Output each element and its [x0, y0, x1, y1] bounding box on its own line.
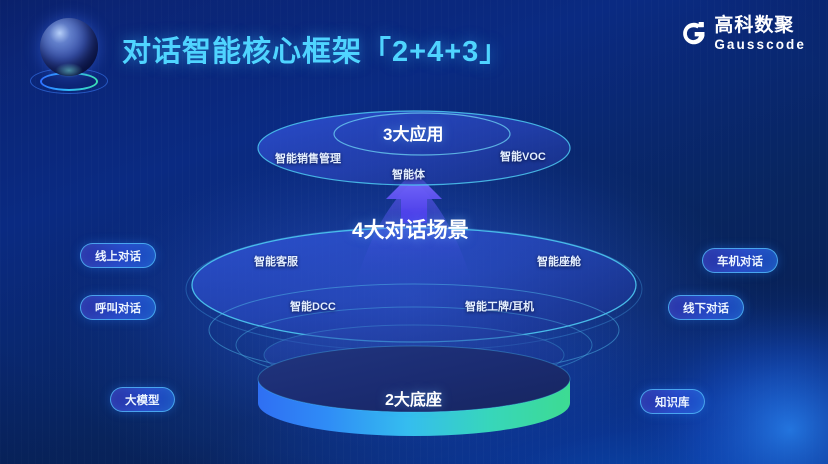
- label-smart-voc[interactable]: 智能VOC: [500, 148, 546, 164]
- gausscode-g-mark-icon: [680, 20, 707, 47]
- pill-call-conversation[interactable]: 呼叫对话: [80, 295, 156, 320]
- pill-knowledge-base[interactable]: 知识库: [640, 389, 705, 414]
- tier-title-foundation: 2大底座: [385, 386, 442, 410]
- tier-title-applications: 3大应用: [383, 120, 443, 145]
- label-smart-cockpit[interactable]: 智能座舱: [537, 253, 581, 269]
- label-smart-badge-headset[interactable]: 智能工牌/耳机: [465, 298, 534, 314]
- pill-offline-conversation[interactable]: 线下对话: [668, 295, 744, 320]
- pill-online-conversation[interactable]: 线上对话: [80, 243, 156, 268]
- orb-ball: [40, 18, 98, 76]
- sphere-orb-icon: [26, 14, 110, 100]
- brand-name-cn: 高科数聚: [714, 16, 806, 35]
- brand-name-en: Gausscode: [714, 38, 806, 52]
- tier-title-scenarios: 4大对话场景: [352, 214, 469, 244]
- pill-invehicle-conversation[interactable]: 车机对话: [702, 248, 778, 273]
- slide-header: 对话智能核心框架「2+4+3」 高科数聚 Gausscode: [0, 0, 828, 100]
- page-title: 对话智能核心框架「2+4+3」: [122, 28, 509, 70]
- slide-canvas: 对话智能核心框架「2+4+3」 高科数聚 Gausscode 3大应用 4大对话…: [0, 0, 828, 464]
- label-agent[interactable]: 智能体: [392, 166, 425, 182]
- brand-logo[interactable]: 高科数聚 Gausscode: [680, 16, 806, 52]
- label-smart-sales-management[interactable]: 智能销售管理: [275, 150, 341, 166]
- label-smart-dcc[interactable]: 智能DCC: [290, 298, 336, 314]
- pill-large-model[interactable]: 大模型: [110, 387, 175, 412]
- label-smart-customer-service[interactable]: 智能客服: [254, 253, 298, 269]
- brand-logo-text: 高科数聚 Gausscode: [714, 16, 806, 52]
